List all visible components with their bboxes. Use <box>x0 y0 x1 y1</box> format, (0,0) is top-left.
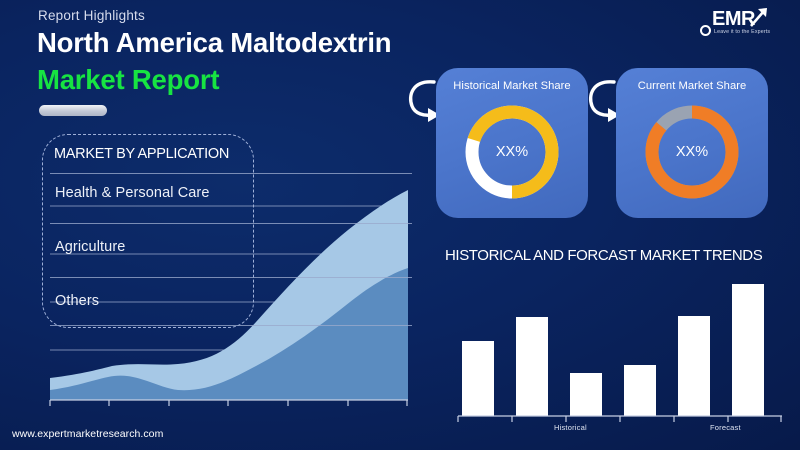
application-divider <box>50 173 412 174</box>
eyebrow-text: Report Highlights <box>38 8 145 23</box>
bar <box>570 373 602 416</box>
current-donut-chart: XX% <box>640 100 744 204</box>
application-divider <box>50 223 412 224</box>
bar-chart-ticks <box>458 416 781 422</box>
donut-center-value: XX% <box>460 100 564 204</box>
donut-center-value: XX% <box>640 100 744 204</box>
card-title: Historical Market Share <box>436 80 588 92</box>
bar <box>732 284 764 416</box>
page-title-accent: Market Report <box>37 64 219 96</box>
historical-market-share-card[interactable]: Historical Market Share XX% <box>436 68 588 218</box>
bar <box>678 316 710 416</box>
market-by-application-title: MARKET BY APPLICATION <box>54 146 229 162</box>
growth-arrow-icon <box>748 4 772 28</box>
application-item-health[interactable]: Health & Personal Care <box>55 185 210 201</box>
bar-chart-title: HISTORICAL AND FORCAST MARKET TRENDS <box>445 247 762 264</box>
infographic-page: Report Highlights North America Maltodex… <box>0 0 800 450</box>
application-item-others[interactable]: Others <box>55 293 99 309</box>
current-market-share-card[interactable]: Current Market Share XX% <box>616 68 768 218</box>
bar <box>462 341 494 416</box>
footer-website-url[interactable]: www.expertmarketresearch.com <box>12 428 163 440</box>
historical-donut-chart: XX% <box>460 100 564 204</box>
logo-tagline: Leave it to the Experts <box>714 29 770 35</box>
historical-forecast-bar-chart <box>450 268 790 423</box>
bar-axis-label-forecast: Forecast <box>710 423 741 432</box>
application-divider <box>50 277 412 278</box>
logo-ring-icon <box>700 25 711 36</box>
bar-axis-label-historical: Historical <box>554 423 587 432</box>
bar <box>516 317 548 416</box>
area-chart-ticks <box>50 400 407 406</box>
title-underline-bar <box>39 105 107 116</box>
application-divider <box>50 325 412 326</box>
card-title: Current Market Share <box>616 80 768 92</box>
emr-logo: EMR Leave it to the Experts <box>696 6 788 44</box>
bar <box>624 365 656 416</box>
page-title: North America Maltodextrin <box>37 27 391 59</box>
application-item-agriculture[interactable]: Agriculture <box>55 239 125 255</box>
